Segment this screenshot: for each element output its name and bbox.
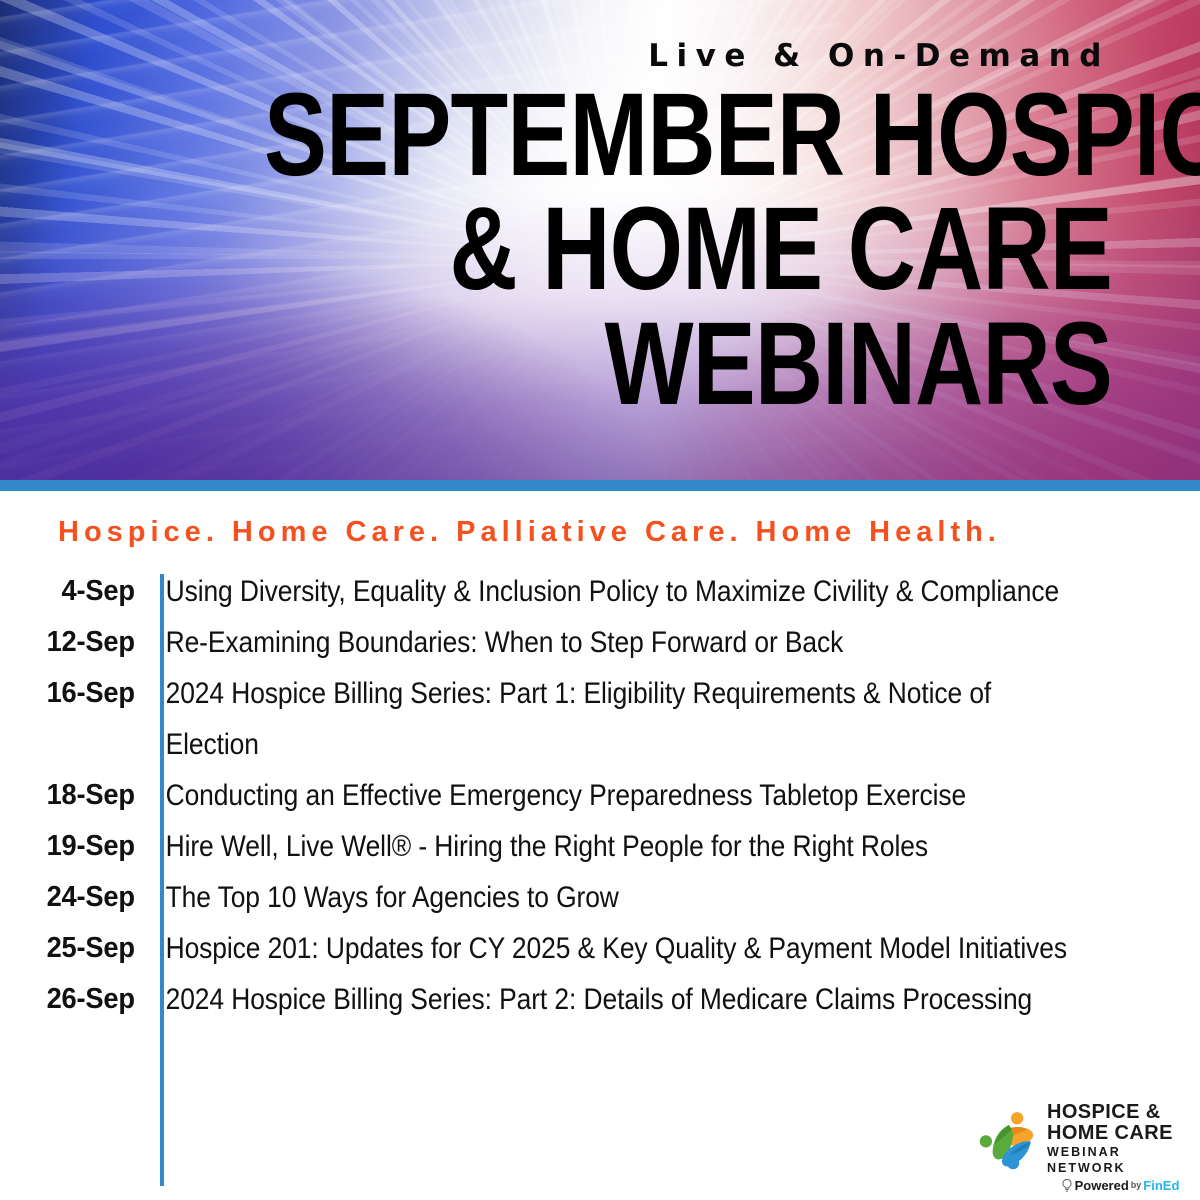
hhcwn-logo-icon xyxy=(975,1106,1043,1174)
schedule-row-date: 26-Sep xyxy=(9,974,148,1025)
schedule-row-title: Using Diversity, Equality & Inclusion Po… xyxy=(148,566,1074,617)
schedule-row-date: 19-Sep xyxy=(9,821,148,872)
schedule-row-title: 2024 Hospice Billing Series: Part 2: Det… xyxy=(148,974,1074,1025)
by-label: by xyxy=(1131,1178,1142,1193)
schedule-row[interactable]: 24-SepThe Top 10 Ways for Agencies to Gr… xyxy=(0,872,1200,923)
lightbulb-icon xyxy=(1061,1179,1073,1193)
schedule-row[interactable]: 25-SepHospice 201: Updates for CY 2025 &… xyxy=(0,923,1200,974)
schedule-row-title: Hire Well, Live Well® - Hiring the Right… xyxy=(148,821,1074,872)
schedule-row[interactable]: 19-SepHire Well, Live Well® - Hiring the… xyxy=(0,821,1200,872)
schedule-row-title: Conducting an Effective Emergency Prepar… xyxy=(148,770,1074,821)
schedule-row[interactable]: 4-SepUsing Diversity, Equality & Inclusi… xyxy=(0,566,1200,617)
hero-banner: Live & On-Demand SEPTEMBER HOSPICE & HOM… xyxy=(0,0,1200,480)
schedule-row-title: Re-Examining Boundaries: When to Step Fo… xyxy=(148,617,1074,668)
schedule-row[interactable]: 16-Sep2024 Hospice Billing Series: Part … xyxy=(0,668,1200,770)
schedule-row-date: 4-Sep xyxy=(9,566,148,617)
logo-line-3: WEBINAR NETWORK xyxy=(1047,1144,1193,1176)
schedule-row[interactable]: 26-Sep2024 Hospice Billing Series: Part … xyxy=(0,974,1200,1025)
accent-bar xyxy=(0,480,1200,491)
schedule-row-date: 12-Sep xyxy=(9,617,148,668)
schedule-row-date: 18-Sep xyxy=(9,770,148,821)
schedule-row[interactable]: 18-SepConducting an Effective Emergency … xyxy=(0,770,1200,821)
powered-by-line: Powered by FinEd xyxy=(1047,1178,1193,1193)
services-subtitle: Hospice. Home Care. Palliative Care. Hom… xyxy=(58,516,1001,549)
logo-line-2: HOME CARE xyxy=(1047,1123,1193,1144)
webinar-schedule-list: 4-SepUsing Diversity, Equality & Inclusi… xyxy=(0,566,1200,1025)
schedule-rows-host: 4-SepUsing Diversity, Equality & Inclusi… xyxy=(0,566,1200,1025)
schedule-row-date: 24-Sep xyxy=(9,872,148,923)
fined-brand-label: FinEd xyxy=(1143,1178,1179,1193)
logo-line-1: HOSPICE & xyxy=(1047,1102,1193,1123)
schedule-row-title: Hospice 201: Updates for CY 2025 & Key Q… xyxy=(148,923,1074,974)
hero-title: SEPTEMBER HOSPICE & HOME CARE WEBINARS xyxy=(264,78,1112,421)
schedule-row-title: 2024 Hospice Billing Series: Part 1: Eli… xyxy=(148,668,1074,770)
webinar-promo-poster: Live & On-Demand SEPTEMBER HOSPICE & HOM… xyxy=(0,0,1200,1200)
schedule-row[interactable]: 12-SepRe-Examining Boundaries: When to S… xyxy=(0,617,1200,668)
brand-logo: HOSPICE & HOME CARE WEBINAR NETWORK Powe… xyxy=(975,1100,1193,1192)
schedule-row-date: 25-Sep xyxy=(9,923,148,974)
hero-title-line-2: & HOME CARE xyxy=(264,192,1112,306)
hero-title-line-1: SEPTEMBER HOSPICE xyxy=(264,78,1112,192)
hero-text-block: Live & On-Demand SEPTEMBER HOSPICE & HOM… xyxy=(0,0,1200,480)
hero-title-line-3: WEBINARS xyxy=(264,307,1112,421)
schedule-row-date: 16-Sep xyxy=(9,668,148,719)
powered-label: Powered xyxy=(1075,1178,1129,1193)
logo-wordmark: HOSPICE & HOME CARE WEBINAR NETWORK Powe… xyxy=(1047,1102,1193,1193)
schedule-row-title: The Top 10 Ways for Agencies to Grow xyxy=(148,872,1074,923)
